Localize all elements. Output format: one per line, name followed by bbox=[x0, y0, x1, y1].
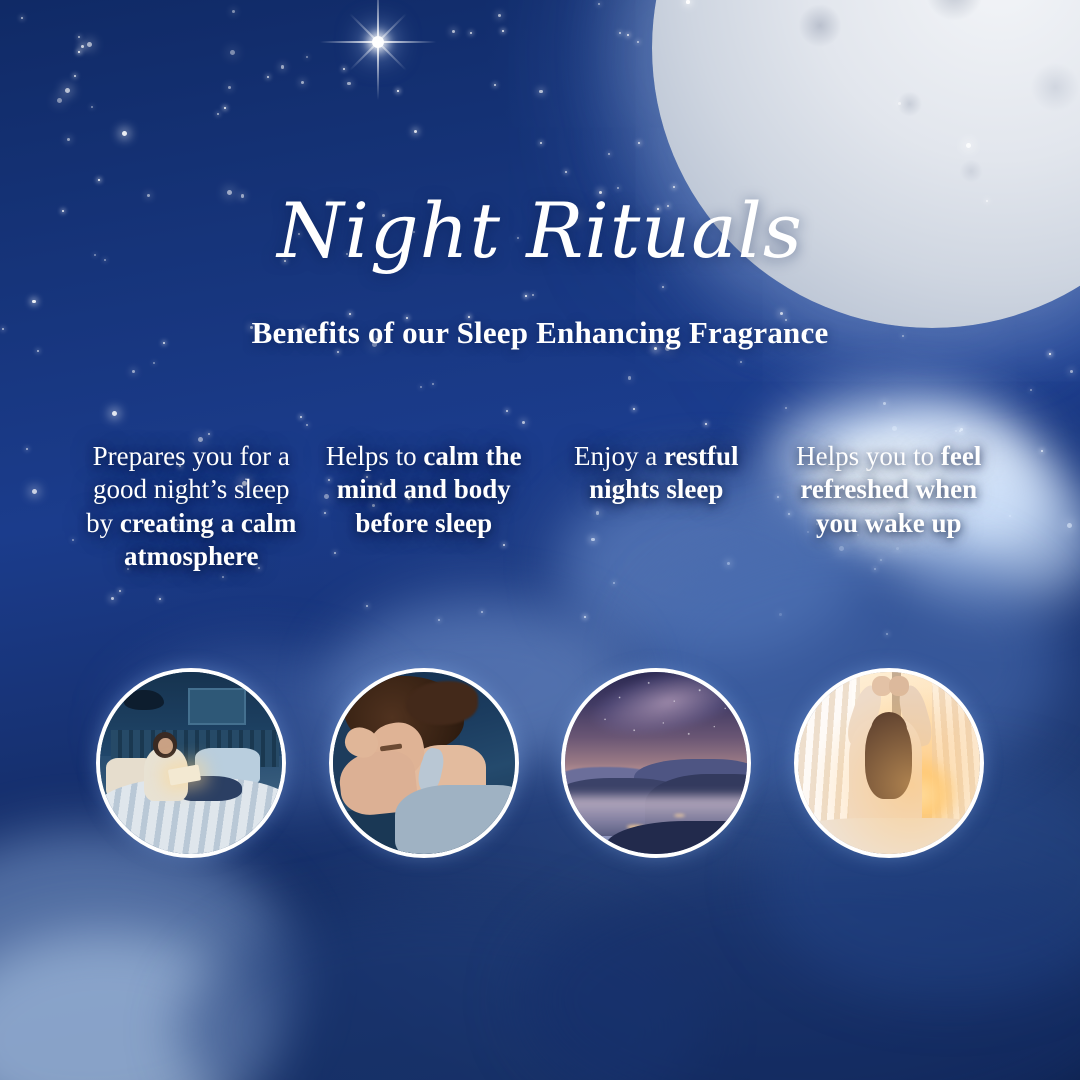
star bbox=[224, 107, 226, 109]
star bbox=[432, 383, 434, 385]
star bbox=[337, 351, 339, 353]
star bbox=[438, 619, 440, 621]
star bbox=[306, 424, 308, 426]
star bbox=[57, 98, 62, 103]
star bbox=[627, 34, 629, 36]
star bbox=[366, 605, 368, 607]
star bbox=[452, 30, 455, 33]
star bbox=[112, 411, 117, 416]
star bbox=[502, 30, 504, 32]
star bbox=[522, 421, 525, 424]
star bbox=[74, 75, 76, 77]
star bbox=[539, 90, 542, 93]
star bbox=[153, 362, 155, 364]
star bbox=[122, 131, 127, 136]
star bbox=[1009, 515, 1011, 517]
star bbox=[565, 171, 567, 173]
benefit-text-4: Helps you to feel refreshed when you wak… bbox=[781, 440, 998, 540]
star bbox=[628, 376, 631, 379]
star bbox=[494, 84, 496, 86]
star bbox=[21, 17, 23, 19]
photo-wrap-2 bbox=[308, 668, 541, 858]
star bbox=[886, 633, 888, 635]
photo-wrap-1 bbox=[75, 668, 308, 858]
star bbox=[67, 138, 70, 141]
benefit-text-2: Helps to calm the mind and body before s… bbox=[316, 440, 533, 540]
benefit-column-2: Helps to calm the mind and body before s… bbox=[308, 440, 541, 574]
star bbox=[1067, 523, 1072, 528]
star bbox=[637, 41, 639, 43]
photo-wrap-4 bbox=[773, 668, 1006, 858]
star bbox=[281, 65, 284, 68]
star bbox=[228, 86, 231, 89]
star bbox=[65, 88, 70, 93]
star bbox=[420, 386, 422, 388]
star bbox=[498, 14, 501, 17]
star bbox=[481, 611, 483, 613]
full-moon-icon bbox=[652, 0, 1080, 328]
page-title: Night Rituals bbox=[0, 186, 1080, 275]
night-rituals-poster: Night Rituals Benefits of our Sleep Enha… bbox=[0, 0, 1080, 1080]
star bbox=[506, 410, 508, 412]
star bbox=[217, 113, 219, 115]
star bbox=[230, 50, 235, 55]
star bbox=[686, 0, 689, 3]
star bbox=[397, 90, 399, 92]
star bbox=[119, 590, 121, 592]
star bbox=[540, 142, 542, 144]
star bbox=[633, 408, 635, 410]
star bbox=[32, 489, 37, 494]
star bbox=[300, 416, 302, 418]
star bbox=[208, 433, 210, 435]
benefit-photos-row bbox=[75, 668, 1005, 858]
star bbox=[525, 295, 527, 297]
woman-stretching-sunrise-photo bbox=[794, 668, 984, 858]
star bbox=[892, 426, 897, 431]
star bbox=[343, 68, 345, 70]
star bbox=[159, 598, 161, 600]
woman-reading-in-bed-photo bbox=[96, 668, 286, 858]
benefit-column-1: Prepares you for a good night’s sleep by… bbox=[75, 440, 308, 574]
benefit-lead-2: Helps to bbox=[326, 441, 424, 471]
star bbox=[785, 407, 787, 409]
benefit-emphasis-1: creating a calm atmosphere bbox=[120, 508, 296, 571]
star bbox=[232, 10, 235, 13]
star bbox=[598, 3, 600, 5]
star bbox=[1041, 450, 1043, 452]
star bbox=[613, 582, 615, 584]
star bbox=[132, 370, 135, 373]
star bbox=[619, 32, 621, 34]
star bbox=[81, 45, 84, 48]
star bbox=[883, 402, 886, 405]
benefit-column-4: Helps you to feel refreshed when you wak… bbox=[773, 440, 1006, 574]
star bbox=[1049, 353, 1051, 355]
star bbox=[662, 286, 664, 288]
benefit-text-3: Enjoy a restful nights sleep bbox=[548, 440, 765, 507]
star bbox=[222, 576, 224, 578]
star bbox=[470, 32, 472, 34]
star bbox=[26, 448, 28, 450]
star bbox=[72, 539, 74, 541]
star bbox=[955, 430, 957, 432]
benefit-lead-3: Enjoy a bbox=[574, 441, 664, 471]
benefit-lead-4: Helps you to bbox=[796, 441, 941, 471]
star bbox=[347, 82, 350, 85]
page-subtitle: Benefits of our Sleep Enhancing Fragranc… bbox=[0, 315, 1080, 351]
star bbox=[532, 294, 534, 296]
star bbox=[78, 51, 80, 53]
benefit-column-3: Enjoy a restful nights sleep bbox=[540, 440, 773, 574]
star bbox=[111, 597, 114, 600]
star bbox=[91, 106, 93, 108]
star bbox=[306, 56, 308, 58]
star bbox=[1030, 389, 1032, 391]
star bbox=[608, 153, 610, 155]
star bbox=[584, 616, 586, 618]
star bbox=[78, 36, 80, 38]
star bbox=[87, 42, 92, 47]
photo-wrap-3 bbox=[540, 668, 773, 858]
star bbox=[414, 130, 417, 133]
woman-sleeping-photo bbox=[329, 668, 519, 858]
benefits-text-row: Prepares you for a good night’s sleep by… bbox=[75, 440, 1005, 574]
bright-star-burst-icon bbox=[372, 36, 384, 48]
star bbox=[705, 423, 707, 425]
star bbox=[98, 179, 100, 181]
starry-mountain-night-photo bbox=[561, 668, 751, 858]
star bbox=[267, 76, 269, 78]
star bbox=[1070, 370, 1073, 373]
star bbox=[740, 361, 742, 363]
star bbox=[32, 300, 35, 303]
star bbox=[779, 613, 782, 616]
star bbox=[638, 142, 640, 144]
benefit-text-1: Prepares you for a good night’s sleep by… bbox=[83, 440, 300, 574]
star bbox=[301, 81, 304, 84]
